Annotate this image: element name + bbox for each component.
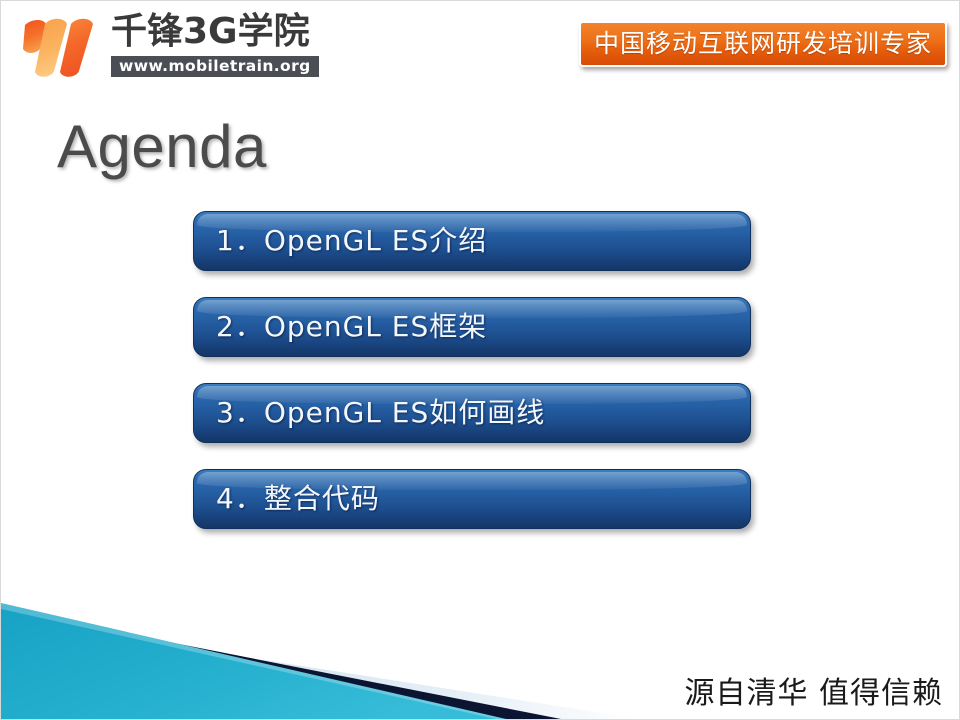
agenda-item-label: 2．OpenGL ES框架 bbox=[194, 311, 487, 343]
agenda-item-label: 4．整合代码 bbox=[194, 483, 380, 515]
agenda-item-4[interactable]: 4．整合代码 bbox=[193, 469, 751, 529]
brand-logo: 千锋3G学院 www.mobiletrain.org bbox=[15, 9, 335, 85]
agenda-item-3[interactable]: 3．OpenGL ES如何画线 bbox=[193, 383, 751, 443]
logo-brand-name: 千锋3G学院 bbox=[111, 11, 337, 53]
header-banner-text: 中国移动互联网研发培训专家 bbox=[594, 31, 932, 57]
logo-text-group: 千锋3G学院 www.mobiletrain.org bbox=[111, 11, 337, 77]
agenda-item-label: 1．OpenGL ES介绍 bbox=[194, 225, 487, 257]
presentation-slide: 千锋3G学院 www.mobiletrain.org 中国移动互联网研发培训专家… bbox=[0, 0, 960, 720]
header-banner: 中国移动互联网研发培训专家 bbox=[579, 21, 947, 67]
page-title: Agenda bbox=[57, 113, 267, 181]
qianfeng-logo-icon bbox=[21, 15, 107, 81]
footer-tagline: 源自清华 值得信赖 bbox=[684, 675, 943, 713]
agenda-list: 1．OpenGL ES介绍 2．OpenGL ES框架 3．OpenGL ES如… bbox=[193, 211, 753, 555]
agenda-item-1[interactable]: 1．OpenGL ES介绍 bbox=[193, 211, 751, 271]
logo-website-url: www.mobiletrain.org bbox=[111, 56, 319, 77]
agenda-item-label: 3．OpenGL ES如何画线 bbox=[194, 397, 545, 429]
agenda-item-2[interactable]: 2．OpenGL ES框架 bbox=[193, 297, 751, 357]
